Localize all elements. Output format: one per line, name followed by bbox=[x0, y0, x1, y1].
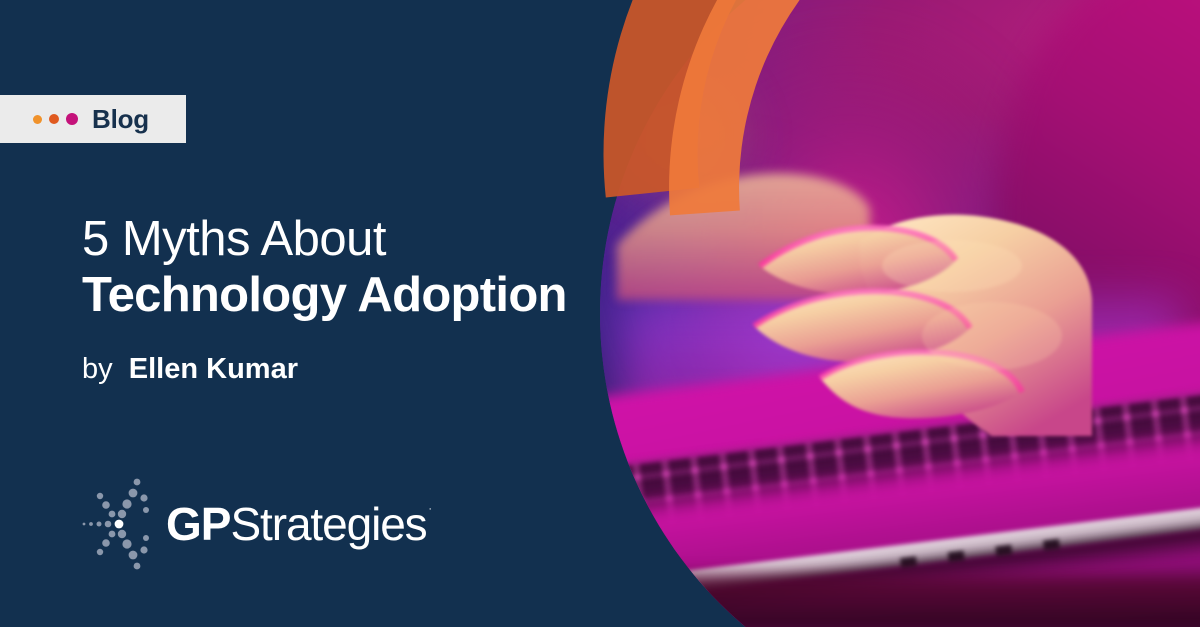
arc-band-inner bbox=[643, 0, 1061, 215]
badge-dots bbox=[33, 113, 78, 125]
dot-magenta-icon bbox=[66, 113, 78, 125]
blog-badge[interactable]: Blog bbox=[0, 95, 186, 143]
byline: by Ellen Kumar bbox=[82, 352, 298, 387]
dot-orange-light-icon bbox=[33, 115, 42, 124]
title-line-2: Technology Adoption bbox=[82, 268, 602, 324]
logo-wordmark: GPStrategies˙ bbox=[166, 501, 433, 547]
arc-band-outer bbox=[562, 0, 1024, 198]
title-line-1: 5 Myths About bbox=[82, 212, 602, 268]
logo-trademark: ˙ bbox=[429, 506, 433, 521]
page-title: 5 Myths About Technology Adoption bbox=[82, 212, 602, 324]
logo-gp: GP bbox=[166, 501, 230, 547]
gp-strategies-logo[interactable]: GPStrategies˙ bbox=[82, 476, 433, 572]
dot-orange-icon bbox=[49, 114, 59, 124]
byline-prefix: by bbox=[82, 353, 113, 385]
gp-starburst-icon bbox=[82, 476, 164, 572]
byline-author: Ellen Kumar bbox=[129, 353, 298, 385]
blog-social-card: Blog 5 Myths About Technology Adoption b… bbox=[0, 0, 1200, 627]
logo-strategies: Strategies bbox=[230, 501, 426, 547]
badge-label: Blog bbox=[92, 106, 149, 132]
